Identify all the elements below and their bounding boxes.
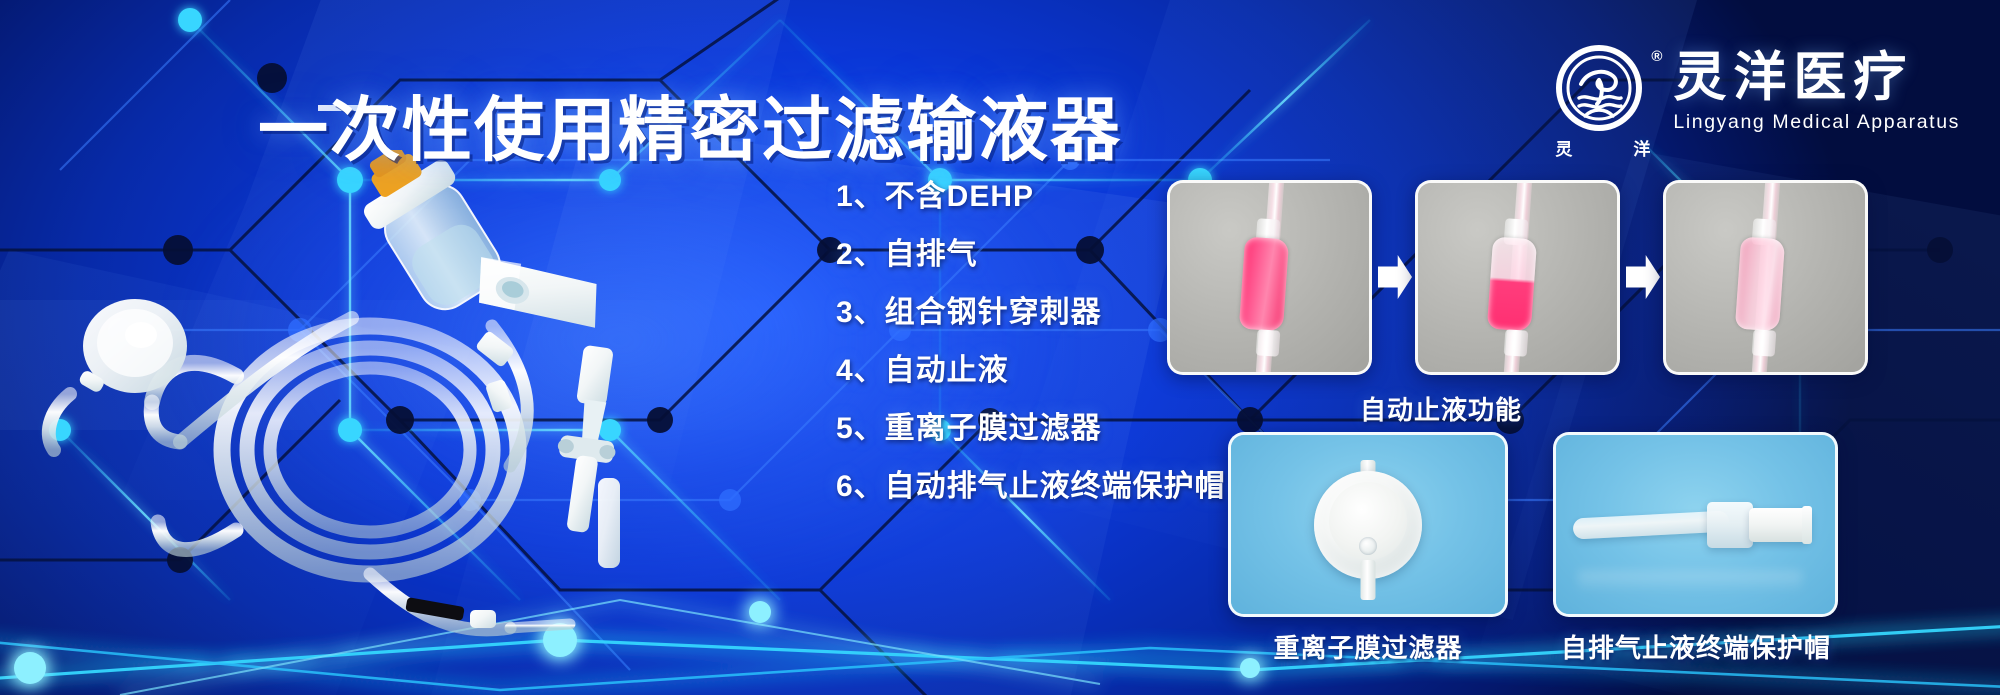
registered-trademark-icon: ® (1651, 48, 1662, 65)
product-photo-protective-cap (1553, 432, 1838, 617)
product-photo-filter (1228, 432, 1508, 617)
brand-logo: ® 灵 洋 灵洋医疗 Lingyang Medical Apparatus (1555, 44, 1960, 140)
main-product-image (40, 150, 700, 670)
logo-char-ling: 灵 (1555, 135, 1573, 160)
product-caption-protective-cap: 自排气止液终端保护帽 (1561, 628, 1831, 665)
lingyang-seal-icon: ® 灵 洋 (1555, 44, 1651, 140)
connector-graphic-bottom (1751, 330, 1776, 358)
brand-text: 灵洋医疗 Lingyang Medical Apparatus (1673, 50, 1960, 134)
connector-graphic-bottom (1255, 330, 1280, 358)
sequence-photo-3 (1663, 180, 1868, 375)
cap-reflection (1578, 571, 1801, 593)
product-banner: 一次性使用精密过滤输液器 ® 灵 洋 灵洋医疗 Lingyang Medical… (0, 0, 2000, 695)
stopflow-chamber-empty (1734, 236, 1784, 331)
cap-end-ring (1802, 506, 1812, 544)
stopflow-chamber-half (1486, 236, 1536, 331)
page-title: 一次性使用精密过滤输液器 (258, 95, 1122, 165)
filter-vent-nub (1359, 537, 1377, 555)
sequence-photo-1 (1167, 180, 1372, 375)
sequence-photo-2 (1415, 180, 1620, 375)
logo-char-yang: 洋 (1633, 135, 1651, 160)
brand-name-cn: 灵洋医疗 (1673, 50, 1960, 106)
feature-item-6: 6、自动排气止液终端保护帽 (836, 458, 1226, 516)
stopflow-chamber-full (1238, 236, 1288, 331)
cap-luer-hub (1707, 502, 1753, 548)
filter-outlet-port (1361, 560, 1376, 600)
product-part-filter (49, 299, 187, 450)
product-caption-filter: 重离子膜过滤器 (1273, 628, 1462, 665)
logo-sub-characters: 灵 洋 (1555, 135, 1651, 160)
brand-name-en: Lingyang Medical Apparatus (1673, 111, 1960, 134)
product-part-tail (370, 574, 570, 630)
sequence-caption: 自动止液功能 (1360, 390, 1522, 427)
feature-item-5: 5、重离子膜过滤器 (836, 400, 1226, 458)
connector-graphic-bottom (1503, 330, 1528, 358)
